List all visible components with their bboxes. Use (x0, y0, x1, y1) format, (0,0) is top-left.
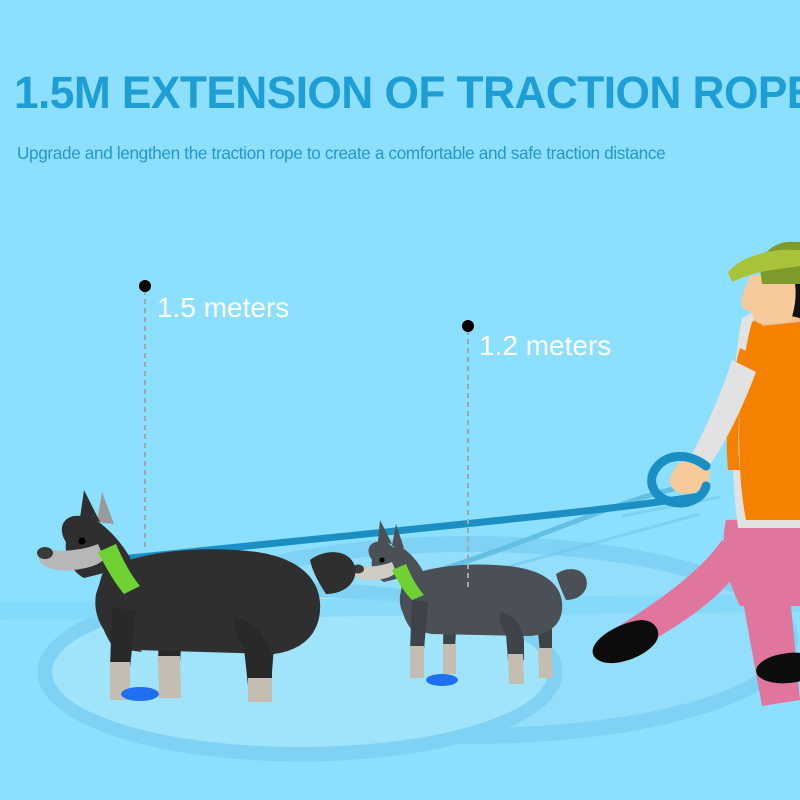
small-dog-hind-paw-near (508, 654, 524, 684)
person-hips (724, 518, 800, 606)
small-dog-eye (379, 557, 384, 562)
large-dog-hind-paw-near (248, 678, 272, 702)
scene-illustration (0, 0, 800, 800)
large-dog-front-paw-far (158, 656, 181, 698)
small-dog-front-paw-near (410, 646, 424, 678)
callout-dot-long (139, 280, 151, 292)
poster-canvas: 1.5M EXTENSION OF TRACTION ROPE Upgrade … (0, 0, 800, 800)
small-dog-front-paw-far (443, 644, 456, 674)
small-dog-paw-mark (426, 674, 458, 686)
small-dog-hind-paw-far (538, 648, 553, 678)
large-dog-paw-mark (121, 687, 159, 701)
large-dog-nose (37, 547, 53, 559)
large-dog-eye (78, 537, 85, 544)
callout-dot-short (462, 320, 474, 332)
